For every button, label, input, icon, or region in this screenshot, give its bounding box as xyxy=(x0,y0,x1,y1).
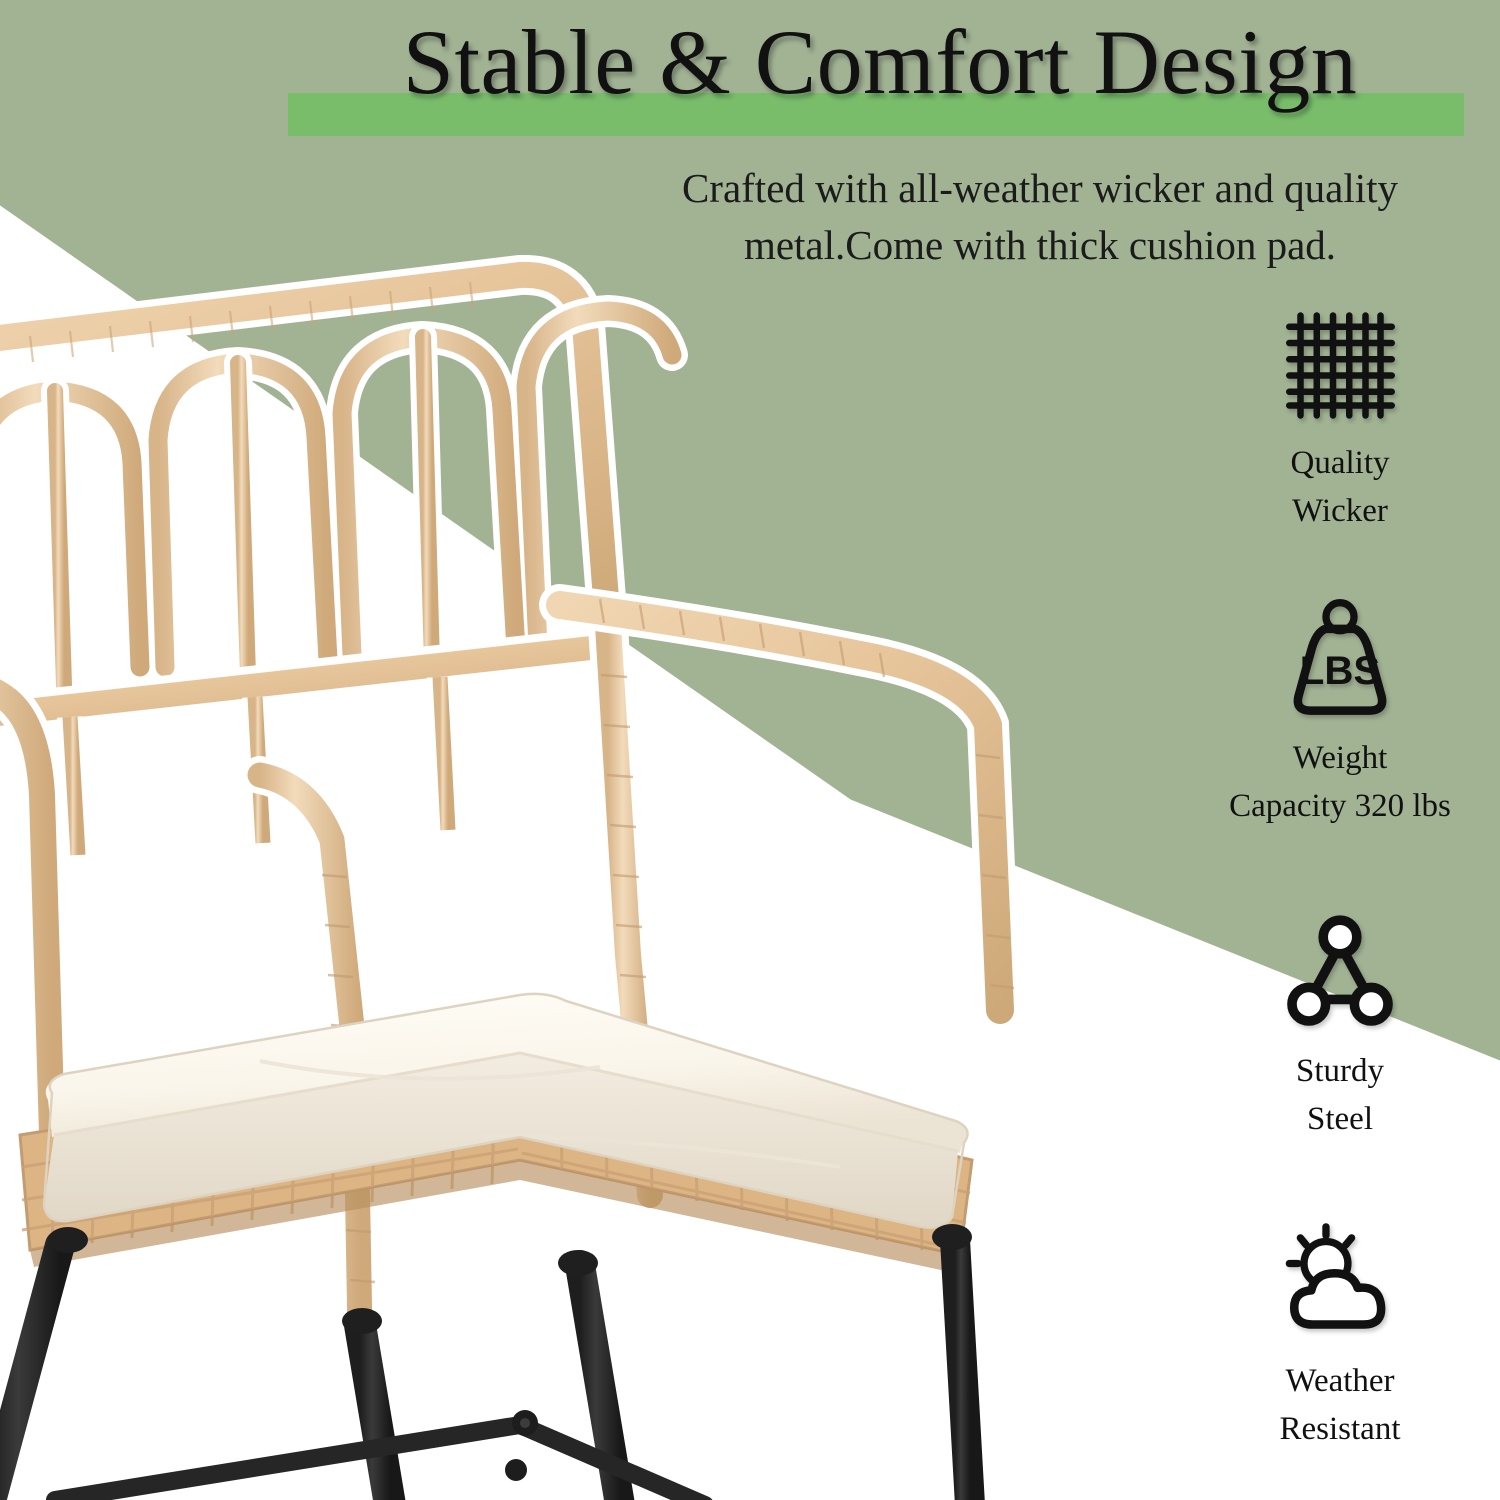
feature-item-weight-capacity: LBS Weight Capacity 320 lbs xyxy=(1180,595,1500,831)
product-illustration xyxy=(0,255,1030,1500)
seat-cushion xyxy=(44,994,968,1228)
chair-backrest xyxy=(0,275,672,855)
steel-triangle-icon xyxy=(1180,908,1500,1038)
infographic-canvas: Stable & Comfort Design Crafted with all… xyxy=(0,0,1500,1500)
feature-label: Sturdy Steel xyxy=(1180,1048,1500,1144)
feature-item-sturdy-steel: Sturdy Steel xyxy=(1180,908,1500,1144)
feature-item-weather-resistant: Weather Resistant xyxy=(1180,1218,1500,1454)
metal-legs xyxy=(0,1224,972,1500)
feature-label: Quality Wicker xyxy=(1180,440,1500,536)
sun-cloud-weather-icon xyxy=(1180,1218,1500,1348)
feature-label: Weather Resistant xyxy=(1180,1358,1500,1454)
page-title: Stable & Comfort Design xyxy=(280,14,1480,111)
weight-kettlebell-icon: LBS xyxy=(1180,595,1500,725)
weight-icon-text: LBS xyxy=(1300,648,1380,693)
feature-label: Weight Capacity 320 lbs xyxy=(1180,735,1500,831)
feature-item-quality-wicker: Quality Wicker xyxy=(1180,300,1500,536)
woven-wicker-icon xyxy=(1180,300,1500,430)
